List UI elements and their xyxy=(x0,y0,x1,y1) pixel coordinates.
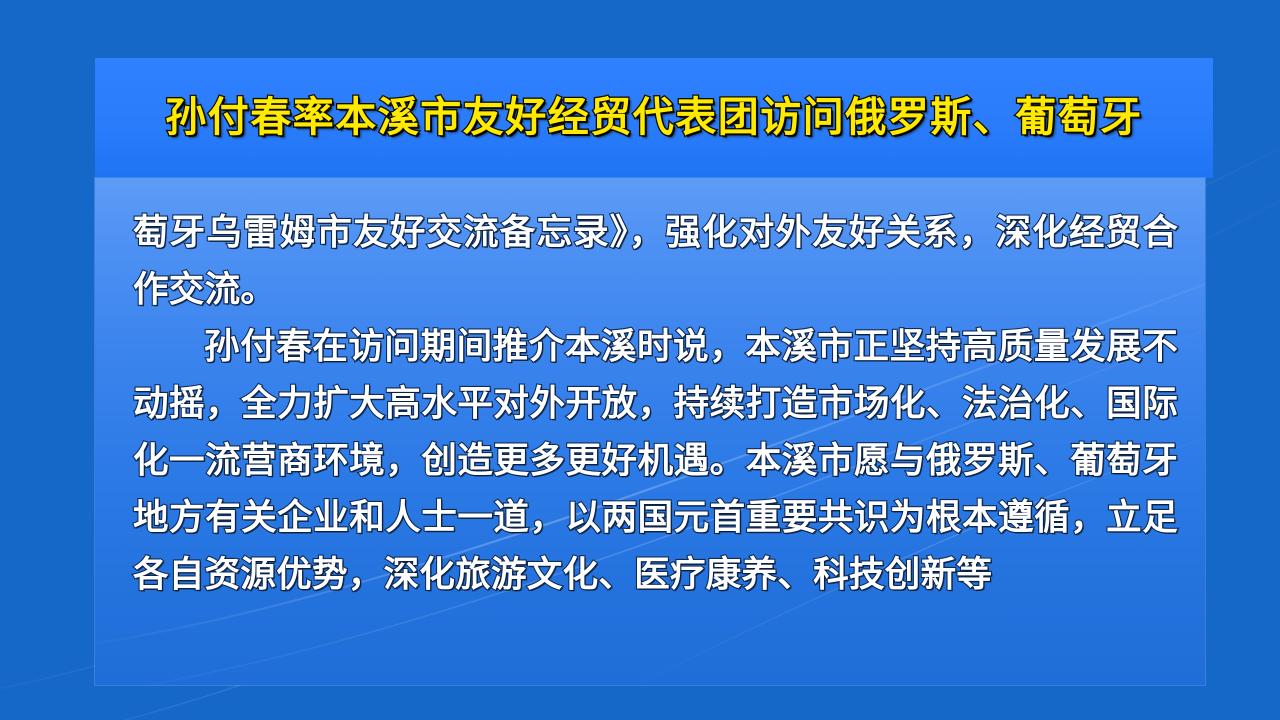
article-content-panel: 萄牙乌雷姆市友好交流备忘录》，强化对外友好关系，深化经贸合作交流。 孙付春在访问… xyxy=(95,178,1205,685)
page-title: 孙付春率本溪市友好经贸代表团访问俄罗斯、葡萄牙 xyxy=(165,95,1143,140)
article-body: 萄牙乌雷姆市友好交流备忘录》，强化对外友好关系，深化经贸合作交流。 孙付春在访问… xyxy=(133,204,1178,603)
title-banner: 孙付春率本溪市友好经贸代表团访问俄罗斯、葡萄牙 xyxy=(95,58,1213,178)
article-paragraph: 孙付春在访问期间推介本溪时说，本溪市正坚持高质量发展不动摇，全力扩大高水平对外开… xyxy=(133,318,1178,603)
broadcast-news-screen: 孙付春率本溪市友好经贸代表团访问俄罗斯、葡萄牙 萄牙乌雷姆市 xyxy=(0,0,1280,720)
article-paragraph: 萄牙乌雷姆市友好交流备忘录》，强化对外友好关系，深化经贸合作交流。 xyxy=(133,204,1178,318)
